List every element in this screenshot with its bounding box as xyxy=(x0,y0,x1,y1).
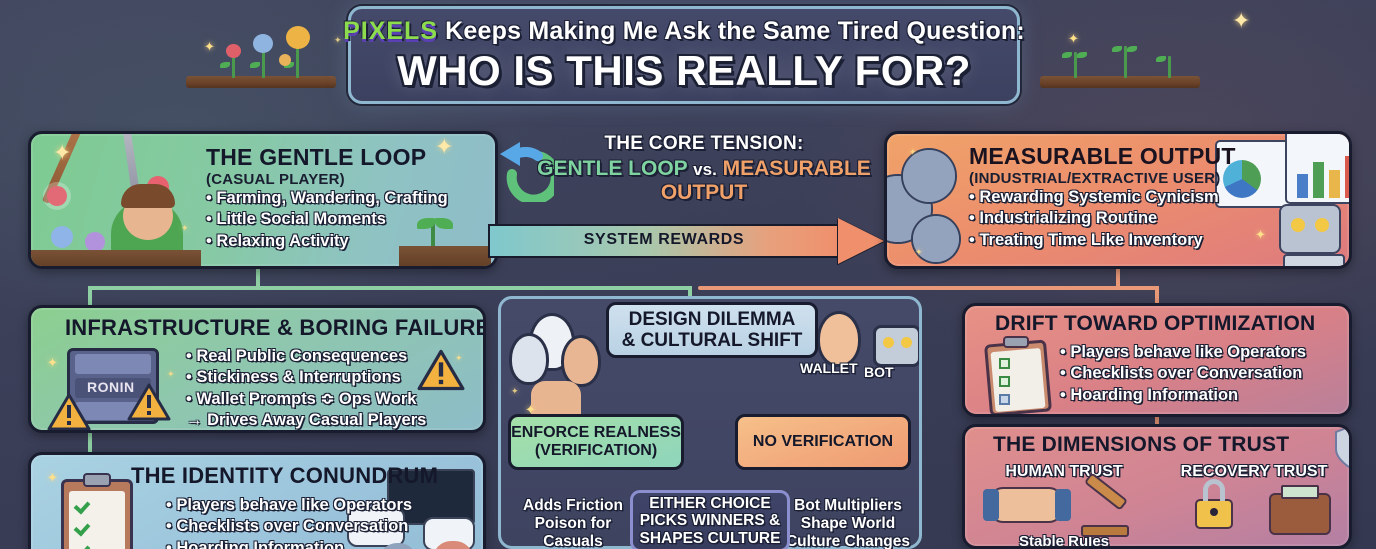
outcome-left-text: Adds Friction Poison for Casuals xyxy=(508,497,638,549)
checkbox-icon xyxy=(999,394,1010,405)
core-tension-terms: GENTLE LOOP vs. MEASURABLE OUTPUT xyxy=(524,157,884,205)
arrow-head xyxy=(838,218,884,264)
list-item-conclusion: Drives Away Casual Players xyxy=(186,410,426,431)
verdict-line-1: EITHER CHOICE xyxy=(640,495,781,513)
theatre-mask-icon xyxy=(509,333,549,385)
list-item: Rewarding Systemic Cynicism xyxy=(969,187,1236,208)
measurable-output-subtitle: (INDUSTRIAL/EXTRACTIVE USER) xyxy=(969,170,1236,187)
list-item: Industrializing Routine xyxy=(969,208,1236,229)
tension-connector: vs. xyxy=(693,160,717,179)
identity-bullets: Players behave like Operators Checklists… xyxy=(166,495,412,549)
card-identity-conundrum[interactable]: ✦ THE IDENTITY CONUNDRUM Players behave … xyxy=(28,452,486,549)
robot-eye xyxy=(1291,218,1305,232)
bar xyxy=(1313,162,1324,198)
list-item: Hoarding Information xyxy=(1060,385,1306,406)
flower-icon xyxy=(51,226,73,248)
measurable-output-bullets: Rewarding Systemic Cynicism Industrializ… xyxy=(969,187,1236,251)
trust-title: THE DIMENSIONS OF TRUST xyxy=(993,433,1289,457)
sparkle-icon: ✦ xyxy=(53,142,71,164)
card-gentle-loop[interactable]: ✦ ✦ ✦ THE GENTLE LOOP (CASUAL PLAYER) Fa… xyxy=(28,131,498,269)
list-item: Treating Time Like Inventory xyxy=(969,230,1236,251)
list-item: Players behave like Operators xyxy=(166,495,412,516)
trust-column-recovery: RECOVERY TRUST xyxy=(1159,463,1349,533)
theatre-mask-icon xyxy=(561,335,601,387)
list-item: Little Social Moments xyxy=(206,209,448,230)
handshake-icon xyxy=(989,487,1063,523)
outcome-right-text: Bot Multipliers Shape World Culture Chan… xyxy=(782,497,914,549)
core-tension-heading: THE CORE TENSION: xyxy=(524,133,884,155)
card-dimensions-of-trust[interactable]: THE DIMENSIONS OF TRUST HUMAN TRUST Stab… xyxy=(962,424,1352,549)
shield-icon xyxy=(1333,424,1352,473)
trust-column-heading: RECOVERY TRUST xyxy=(1159,463,1349,481)
infographic-canvas: ✦ ✦ ✦ ✦ PIXELS Keeps Making Me Ask the S… xyxy=(0,0,1376,549)
list-item: Relaxing Activity xyxy=(206,231,448,252)
player-hair xyxy=(121,184,175,208)
sparkle-icon: ✦ xyxy=(167,370,175,379)
wallet-tag: WALLET xyxy=(800,360,858,376)
card-infrastructure-failures[interactable]: INFRASTRUCTURE & BORING FAILURES RONIN ✦… xyxy=(28,305,486,433)
robot-head xyxy=(1279,204,1341,254)
calculator-icon xyxy=(1283,254,1345,269)
list-item: Checklists over Conversation xyxy=(1060,363,1306,384)
list-item: Farming, Wandering, Crafting xyxy=(206,188,448,209)
measurable-output-title: MEASURABLE OUTPUT xyxy=(969,143,1236,170)
sparkle-icon: ✦ xyxy=(909,148,917,157)
bar xyxy=(1345,156,1352,198)
padlock-shackle xyxy=(1203,479,1225,501)
list-item: Real Public Consequences xyxy=(186,346,426,367)
infrastructure-bullets: Real Public Consequences Stickiness & In… xyxy=(186,346,426,432)
bot-eye xyxy=(901,337,912,348)
gentle-loop-text: THE GENTLE LOOP (CASUAL PLAYER) Farming,… xyxy=(206,144,448,252)
bar xyxy=(1297,174,1308,198)
clipboard-clip xyxy=(1003,336,1029,348)
sparkle-icon: ✦ xyxy=(181,224,189,233)
handshake-cuff xyxy=(1055,489,1071,521)
server-slot xyxy=(75,354,151,374)
warning-triangle-icon xyxy=(47,392,91,432)
checkbox-checked-icon xyxy=(999,358,1010,369)
list-item: Checklists over Conversation xyxy=(166,516,412,537)
drift-bullets: Players behave like Operators Checklists… xyxy=(1060,342,1306,406)
drift-title: DRIFT TOWARD OPTIMIZATION xyxy=(995,312,1315,336)
clipboard-paper xyxy=(69,491,125,549)
verdict-line-3: SHAPES CULTURE xyxy=(640,530,781,548)
gentle-loop-title: THE GENTLE LOOP xyxy=(206,144,448,171)
verdict-box-either-choice: EITHER CHOICE PICKS WINNERS & SHAPES CUL… xyxy=(630,490,790,549)
system-rewards-label: SYSTEM REWARDS xyxy=(488,231,840,249)
sparkle-icon: ✦ xyxy=(47,471,58,484)
design-dilemma-title-box: DESIGN DILEMMA & CULTURAL SHIFT xyxy=(606,302,818,358)
clipboard-clip xyxy=(83,473,111,487)
list-item: Hoarding Information xyxy=(166,538,412,549)
choice-left-line-2: (VERIFICATION) xyxy=(535,442,657,460)
wallet-cash xyxy=(1281,485,1319,499)
card-drift-toward-optimization[interactable]: DRIFT TOWARD OPTIMIZATION Players behave… xyxy=(962,303,1352,417)
bot-tag: BOT xyxy=(864,364,894,380)
gear-icon xyxy=(903,150,955,202)
warning-triangle-icon xyxy=(127,382,171,422)
gavel-block xyxy=(1081,525,1129,537)
gentle-loop-subtitle: (CASUAL PLAYER) xyxy=(206,171,448,188)
list-item: Stickiness & Interruptions xyxy=(186,367,426,388)
wallet-icon xyxy=(1269,493,1331,535)
sparkle-icon: ✦ xyxy=(47,356,58,369)
sparkle-icon: ✦ xyxy=(455,354,463,363)
choice-right-label: NO VERIFICATION xyxy=(753,433,893,451)
measurable-output-text: MEASURABLE OUTPUT (INDUSTRIAL/EXTRACTIVE… xyxy=(969,143,1236,251)
bar xyxy=(1329,170,1340,198)
checkbox-checked-icon xyxy=(999,376,1010,387)
choice-no-verification[interactable]: NO VERIFICATION xyxy=(735,414,911,470)
sparkle-icon: ✦ xyxy=(1255,228,1266,241)
trust-column-human: HUMAN TRUST Stable Rules xyxy=(971,463,1157,549)
verdict-text: EITHER CHOICE PICKS WINNERS & SHAPES CUL… xyxy=(640,495,781,548)
flower-icon xyxy=(85,232,105,252)
identity-title: THE IDENTITY CONUNDRUM xyxy=(131,463,438,489)
list-item: Wallet Prompts ≎ Ops Work xyxy=(186,389,426,410)
dilemma-title-line-1: DESIGN DILEMMA xyxy=(629,309,796,330)
sparkle-icon: ✦ xyxy=(915,248,923,257)
handshake-cuff xyxy=(983,489,999,521)
robot-eye xyxy=(1315,218,1329,232)
core-tension-block: THE CORE TENSION: GENTLE LOOP vs. MEASUR… xyxy=(524,133,884,205)
gentle-loop-bullets: Farming, Wandering, Crafting Little Soci… xyxy=(206,188,448,252)
sparkle-icon: ✦ xyxy=(511,387,519,396)
card-measurable-output[interactable]: ✦ ✦ ✦ MEASURABLE OUTPUT (INDUSTRIAL/EXTR… xyxy=(884,131,1352,269)
tension-left-term: GENTLE LOOP xyxy=(537,157,687,180)
choice-enforce-realness[interactable]: ENFORCE REALNESS (VERIFICATION) xyxy=(508,414,684,470)
verdict-line-2: PICKS WINNERS & xyxy=(640,512,781,530)
system-rewards-arrow: SYSTEM REWARDS xyxy=(488,224,886,258)
bot-icon xyxy=(873,325,921,367)
soil-patch xyxy=(31,250,201,269)
dilemma-title-line-2: & CULTURAL SHIFT xyxy=(622,330,803,351)
padlock-keyhole xyxy=(1210,508,1218,516)
trust-column-heading: HUMAN TRUST xyxy=(971,463,1157,481)
trust-column-caption: Stable Rules xyxy=(971,533,1157,549)
bot-eye xyxy=(883,337,894,348)
infrastructure-title: INFRASTRUCTURE & BORING FAILURES xyxy=(65,315,486,341)
wallet-mask-icon xyxy=(817,311,861,367)
list-item: Players behave like Operators xyxy=(1060,342,1306,363)
flower-icon xyxy=(47,186,67,206)
choice-left-line-1: ENFORCE REALNESS xyxy=(511,424,681,442)
